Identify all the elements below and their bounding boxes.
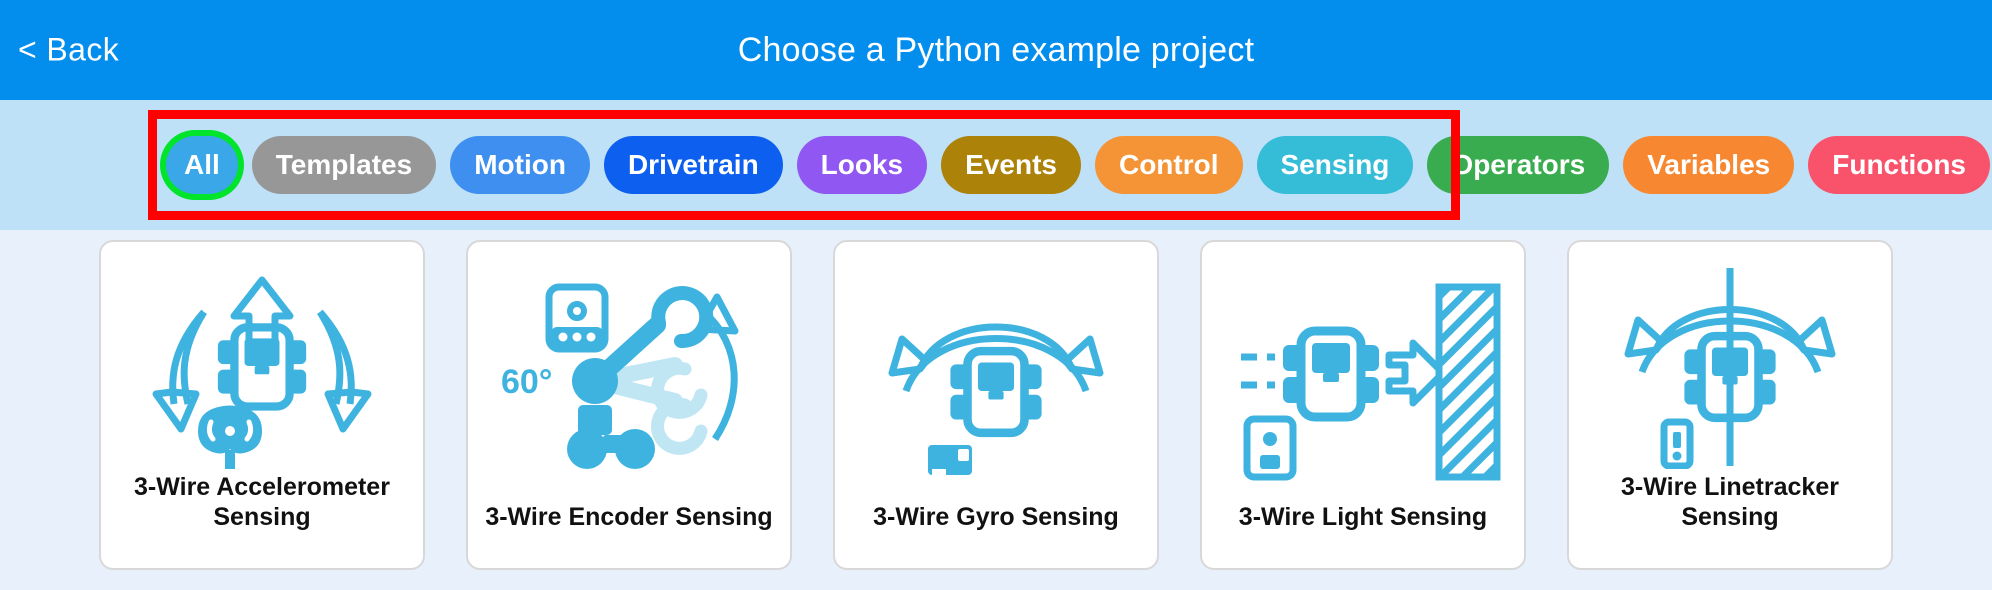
example-card-label: 3-Wire Encoder Sensing <box>478 503 780 555</box>
accelerometer-sensor-glyph <box>198 406 262 470</box>
example-card-label: 3-Wire Gyro Sensing <box>845 503 1147 555</box>
category-pill-label: Sensing <box>1281 151 1390 179</box>
category-pill-label: Events <box>965 151 1057 179</box>
category-pill-label: Looks <box>821 151 903 179</box>
category-pill-control[interactable]: Control <box>1095 136 1243 194</box>
back-button[interactable]: < Back <box>18 32 119 69</box>
light-sensor-glyph <box>1247 419 1293 477</box>
encoder-angle-label: 60° <box>501 363 552 401</box>
category-pill-sensing[interactable]: Sensing <box>1257 136 1414 194</box>
example-card-label: 3-Wire Accelerometer Sensing <box>111 473 413 554</box>
gyro-sensor-glyph <box>928 445 972 481</box>
encoder-sensing-icon: 60° <box>479 269 779 484</box>
category-pill-label: Templates <box>276 151 412 179</box>
linetracker-sensor-glyph <box>1664 422 1690 466</box>
example-project-grid: 3-Wire Accelerometer Sensing <box>0 230 1992 590</box>
example-card-3-wire-gyro-sensing[interactable]: 3-Wire Gyro Sensing <box>833 240 1159 570</box>
category-pill-functions[interactable]: Functions <box>1808 136 1990 194</box>
category-pill-motion[interactable]: Motion <box>450 136 590 194</box>
light-sensing-icon <box>1212 250 1514 503</box>
category-pill-label: Motion <box>474 151 566 179</box>
light-sensing-icon <box>1213 269 1513 484</box>
light-beam-arrow <box>1389 343 1443 403</box>
example-card-3-wire-light-sensing[interactable]: 3-Wire Light Sensing <box>1200 240 1526 570</box>
category-pill-events[interactable]: Events <box>941 136 1081 194</box>
example-card-3-wire-accelerometer-sensing[interactable]: 3-Wire Accelerometer Sensing <box>99 240 425 570</box>
category-pill-label: Drivetrain <box>628 151 759 179</box>
category-pill-label: All <box>184 151 220 179</box>
example-card-3-wire-linetracker-sensing[interactable]: 3-Wire Linetracker Sensing <box>1567 240 1893 570</box>
app-header: < Back Choose a Python example project <box>0 0 1992 100</box>
accelerometer-sensing-icon <box>111 250 413 473</box>
encoder-brain-glyph <box>549 287 605 349</box>
category-filter-bar: AllTemplatesMotionDrivetrainLooksEventsC… <box>0 100 1992 230</box>
linetracker-sensing-icon <box>1579 250 1881 473</box>
example-card-label: 3-Wire Linetracker Sensing <box>1579 473 1881 554</box>
light-wall-glyph <box>1439 287 1497 477</box>
encoder-sensing-icon: 60° <box>478 250 780 503</box>
category-pill-looks[interactable]: Looks <box>797 136 927 194</box>
light-dash-marks <box>1241 357 1275 385</box>
category-pill-label: Operators <box>1451 151 1585 179</box>
category-pill-row: AllTemplatesMotionDrivetrainLooksEventsC… <box>0 100 1990 230</box>
category-pill-label: Control <box>1119 151 1219 179</box>
category-pill-label: Functions <box>1832 151 1966 179</box>
example-card-3-wire-encoder-sensing[interactable]: 60° 3-Wire Encoder Sensing <box>466 240 792 570</box>
category-pill-drivetrain[interactable]: Drivetrain <box>604 136 783 194</box>
linetracker-sensing-icon <box>1580 254 1880 469</box>
gyro-sensing-icon <box>845 250 1147 503</box>
category-pill-all[interactable]: All <box>166 136 238 194</box>
accelerometer-sensing-icon <box>112 254 412 469</box>
category-pill-label: Variables <box>1647 151 1770 179</box>
gyro-sensing-icon <box>846 269 1146 484</box>
category-pill-templates[interactable]: Templates <box>252 136 436 194</box>
example-card-label: 3-Wire Light Sensing <box>1212 503 1514 555</box>
category-pill-variables[interactable]: Variables <box>1623 136 1794 194</box>
page-title: Choose a Python example project <box>0 31 1992 70</box>
category-pill-operators[interactable]: Operators <box>1427 136 1609 194</box>
